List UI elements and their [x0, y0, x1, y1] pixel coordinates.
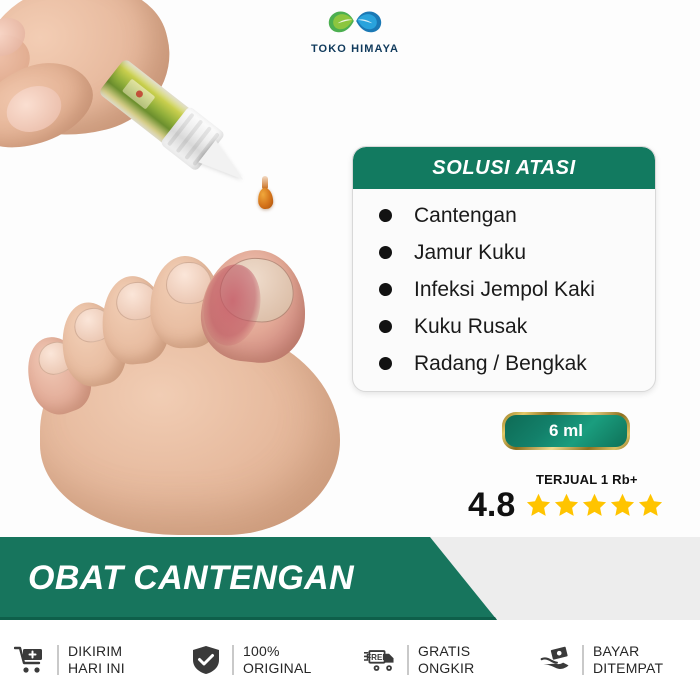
feature-dikirim-hari-ini: DIKIRIM HARI INI — [0, 643, 175, 677]
star-icon — [581, 492, 608, 519]
rating-score: 4.8 — [468, 488, 515, 522]
sold-count-label: TERJUAL 1 Rb+ — [536, 472, 638, 487]
divider — [232, 645, 234, 675]
bullet-icon — [379, 320, 392, 333]
list-item-label: Infeksi Jempol Kaki — [414, 278, 595, 302]
list-item: Jamur Kuku — [353, 234, 655, 271]
feature-strip: DIKIRIM HARI INI 100% ORIGINAL FREE — [0, 620, 700, 700]
product-photo-area: TOKO HIMAYA SOLUSI ATASI Cantengan Jamur… — [0, 0, 700, 620]
feature-label: BAYAR DITEMPAT — [593, 643, 663, 677]
banner-title: OBAT CANTENGAN — [28, 559, 354, 598]
divider — [582, 645, 584, 675]
brand-logo: TOKO HIMAYA — [300, 6, 410, 58]
infinity-leaf-logo-icon — [319, 6, 391, 36]
list-item-label: Kuku Rusak — [414, 315, 527, 339]
feature-line2: DITEMPAT — [593, 660, 663, 677]
feature-line2: ONGKIR — [418, 660, 474, 677]
list-item: Radang / Bengkak — [353, 345, 655, 382]
feature-label: 100% ORIGINAL — [243, 643, 312, 677]
feature-line1: 100% — [243, 643, 312, 660]
solusi-panel: SOLUSI ATASI Cantengan Jamur Kuku Infeks… — [352, 146, 656, 392]
divider — [407, 645, 409, 675]
banner-strip: OBAT CANTENGAN HALAL INDONESIA — [0, 537, 700, 620]
list-item-label: Cantengan — [414, 204, 517, 228]
cart-plus-icon — [14, 645, 48, 675]
feature-bayar-ditempat: BAYAR DITEMPAT — [525, 643, 700, 677]
star-icon — [609, 492, 636, 519]
list-item: Cantengan — [353, 197, 655, 234]
feature-line2: ORIGINAL — [243, 660, 312, 677]
infected-toe-foot-icon — [20, 250, 350, 540]
bullet-icon — [379, 357, 392, 370]
star-icon — [525, 492, 552, 519]
feature-line2: HARI INI — [68, 660, 125, 677]
free-truck-icon: FREE — [364, 645, 398, 675]
bullet-icon — [379, 283, 392, 296]
banner-green: OBAT CANTENGAN — [0, 537, 500, 620]
divider — [57, 645, 59, 675]
feature-line1: GRATIS — [418, 643, 474, 660]
product-advertisement: TOKO HIMAYA SOLUSI ATASI Cantengan Jamur… — [0, 0, 700, 700]
star-icon — [637, 492, 664, 519]
feature-label: DIKIRIM HARI INI — [68, 643, 125, 677]
rating-stars — [525, 492, 664, 519]
rating-row: 4.8 — [468, 488, 664, 522]
liquid-drop-icon — [257, 188, 273, 210]
bullet-icon — [379, 246, 392, 259]
panel-list: Cantengan Jamur Kuku Infeksi Jempol Kaki… — [353, 189, 655, 382]
feature-label: GRATIS ONGKIR — [418, 643, 474, 677]
volume-badge-inner: 6 ml — [505, 415, 627, 447]
list-item-label: Radang / Bengkak — [414, 352, 587, 376]
brand-name: TOKO HIMAYA — [300, 43, 410, 55]
list-item-label: Jamur Kuku — [414, 241, 526, 265]
shield-check-icon — [189, 645, 223, 675]
feature-100-original: 100% ORIGINAL — [175, 643, 350, 677]
list-item: Kuku Rusak — [353, 308, 655, 345]
list-item: Infeksi Jempol Kaki — [353, 271, 655, 308]
feature-line1: BAYAR — [593, 643, 663, 660]
feature-line1: DIKIRIM — [68, 643, 125, 660]
feature-gratis-ongkir: FREE GRATIS ONGKIR — [350, 643, 525, 677]
panel-title: SOLUSI ATASI — [432, 157, 576, 180]
volume-label: 6 ml — [549, 421, 583, 441]
volume-badge: 6 ml — [502, 412, 630, 450]
panel-header: SOLUSI ATASI — [353, 147, 655, 189]
star-icon — [553, 492, 580, 519]
bullet-icon — [379, 209, 392, 222]
hand-money-icon — [539, 645, 573, 675]
